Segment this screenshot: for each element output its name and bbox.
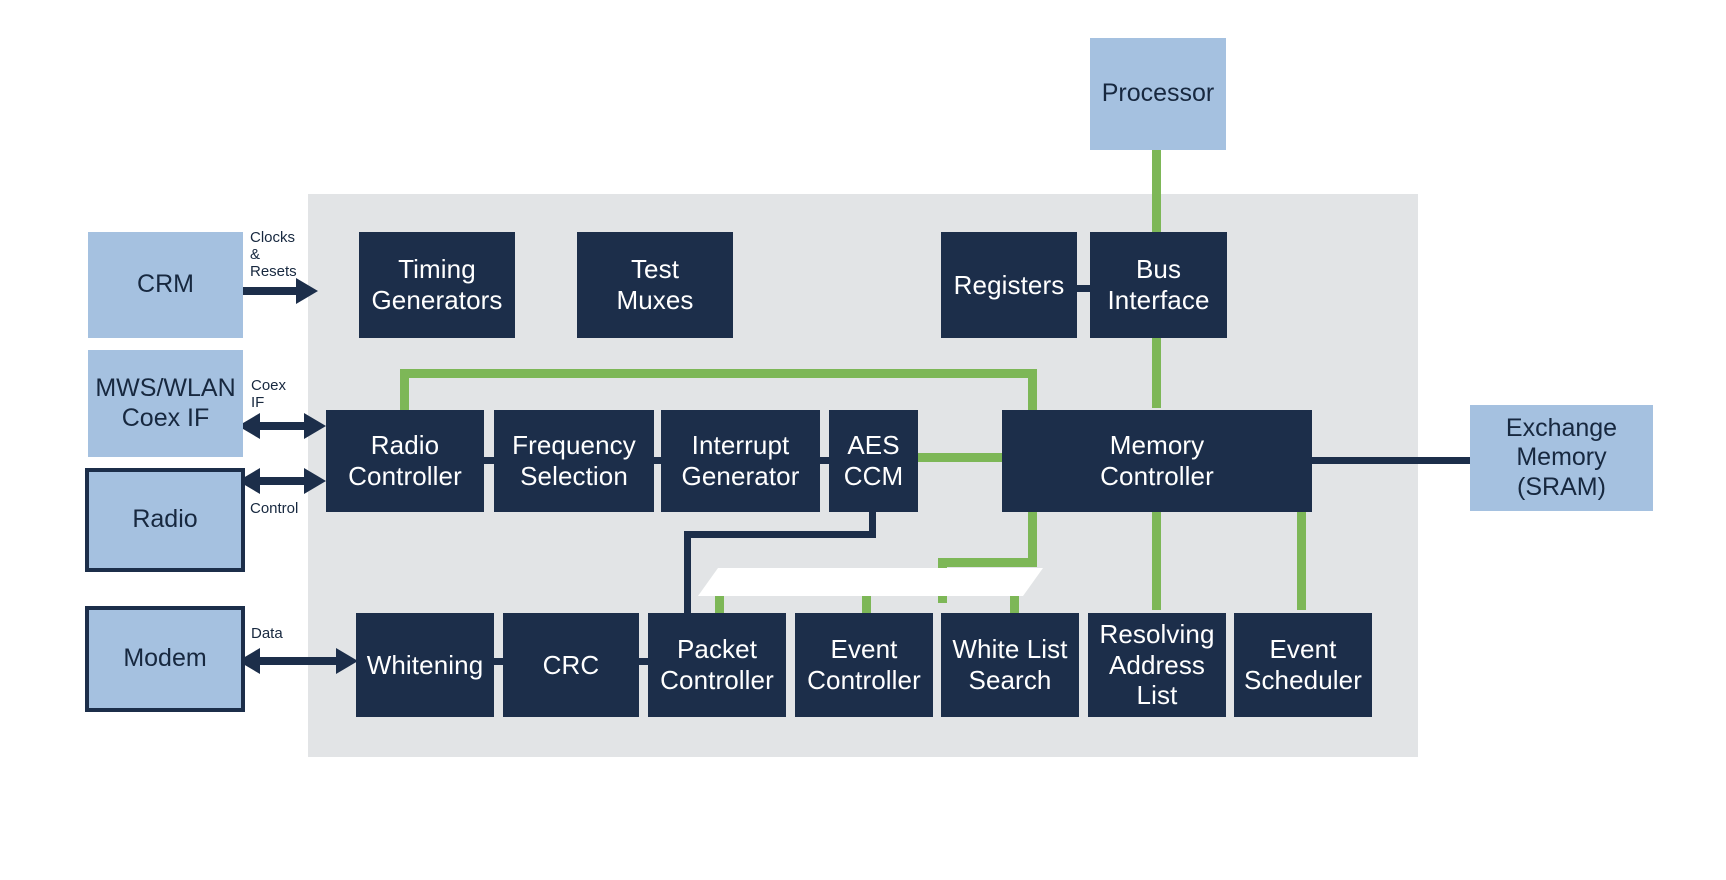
block-resolving-address-list-label: Resolving Address List — [1099, 619, 1214, 711]
arrow-modem-to-whitening — [238, 648, 358, 674]
green-wire-top-horizontal-bus — [400, 369, 1037, 378]
block-resolving-address-list[interactable]: Resolving Address List — [1088, 613, 1226, 717]
block-exchange-memory-label: Exchange Memory (SRAM) — [1506, 414, 1617, 503]
block-white-list-search-label: White List Search — [952, 634, 1067, 695]
block-modem-label: Modem — [123, 644, 206, 674]
block-white-list-search[interactable]: White List Search — [941, 613, 1079, 717]
block-event-scheduler[interactable]: Event Scheduler — [1234, 613, 1372, 717]
edge-label-coex-if: Coex IF — [251, 378, 286, 412]
block-mws-wlan-coex-if-label: MWS/WLAN Coex IF — [95, 374, 235, 433]
navy-wire-interrupt-generator-to-aes — [820, 457, 829, 464]
block-packet-controller[interactable]: Packet Controller — [648, 613, 786, 717]
green-wire-bus-interface-to-memory-controller — [1152, 336, 1161, 408]
arrow-crm-to-timing-generators — [238, 278, 318, 304]
green-wire-memory-controller-to-event-scheduler — [1297, 512, 1306, 610]
block-radio-label: Radio — [132, 505, 197, 535]
block-processor[interactable]: Processor — [1090, 38, 1226, 150]
edge-label-data: Data — [251, 626, 283, 643]
block-modem[interactable]: Modem — [85, 606, 245, 712]
edge-label-control: Control — [250, 501, 298, 518]
block-aes-ccm[interactable]: AES CCM — [829, 410, 918, 512]
block-test-muxes-label: Test Muxes — [616, 254, 693, 315]
block-timing-generators-label: Timing Generators — [371, 254, 502, 315]
block-processor-label: Processor — [1102, 79, 1215, 109]
green-wire-aes-to-memory-controller — [918, 453, 1002, 462]
arrow-coex-to-radio-controller — [238, 413, 326, 439]
green-wire-bus-drop-to-memory-controller — [1028, 369, 1037, 411]
block-diagram-canvas: CRM MWS/WLAN Coex IF Radio Modem Process… — [0, 0, 1726, 880]
block-mws-wlan-coex-if[interactable]: MWS/WLAN Coex IF — [88, 350, 243, 457]
block-memory-controller-label: Memory Controller — [1100, 430, 1214, 491]
block-interrupt-generator[interactable]: Interrupt Generator — [661, 410, 820, 512]
block-crm[interactable]: CRM — [88, 232, 243, 338]
block-frequency-selection-label: Frequency Selection — [512, 430, 636, 491]
navy-wire-aes-to-packet-horizontal — [684, 531, 876, 538]
navy-wire-crc-to-packet-controller — [638, 658, 648, 665]
block-interrupt-generator-label: Interrupt Generator — [682, 430, 800, 491]
block-crm-label: CRM — [137, 270, 194, 300]
block-bus-interface-label: Bus Interface — [1107, 254, 1209, 315]
block-registers-label: Registers — [954, 270, 1065, 301]
block-event-scheduler-label: Event Scheduler — [1244, 634, 1362, 695]
block-timing-generators[interactable]: Timing Generators — [359, 232, 515, 338]
arrow-radio-to-radio-controller — [238, 468, 326, 494]
block-whitening[interactable]: Whitening — [356, 613, 494, 717]
block-radio-controller[interactable]: Radio Controller — [326, 410, 484, 512]
block-crc-label: CRC — [543, 650, 600, 681]
edge-label-clocks-and-resets: Clocks & Resets — [250, 230, 297, 280]
block-packet-controller-label: Packet Controller — [660, 634, 774, 695]
block-exchange-memory[interactable]: Exchange Memory (SRAM) — [1470, 405, 1653, 511]
green-wire-memory-controller-to-ral — [1152, 512, 1161, 610]
block-frequency-selection[interactable]: Frequency Selection — [494, 410, 654, 512]
navy-wire-aes-to-packet-vertical — [684, 531, 691, 614]
navy-wire-memory-controller-to-exchange-memory — [1310, 457, 1470, 464]
block-radio[interactable]: Radio — [85, 468, 245, 572]
block-bus-interface[interactable]: Bus Interface — [1090, 232, 1227, 338]
block-aes-ccm-label: AES CCM — [844, 430, 904, 491]
green-wire-memory-controller-left — [938, 558, 1037, 567]
block-test-muxes[interactable]: Test Muxes — [577, 232, 733, 338]
block-event-controller[interactable]: Event Controller — [795, 613, 933, 717]
block-radio-controller-label: Radio Controller — [348, 430, 462, 491]
green-wire-processor-to-bus-interface — [1152, 150, 1161, 240]
block-registers[interactable]: Registers — [941, 232, 1077, 338]
internal-bus-bar — [698, 568, 1043, 596]
block-event-controller-label: Event Controller — [807, 634, 921, 695]
block-memory-controller[interactable]: Memory Controller — [1002, 410, 1312, 512]
block-whitening-label: Whitening — [367, 650, 484, 681]
block-crc[interactable]: CRC — [503, 613, 639, 717]
